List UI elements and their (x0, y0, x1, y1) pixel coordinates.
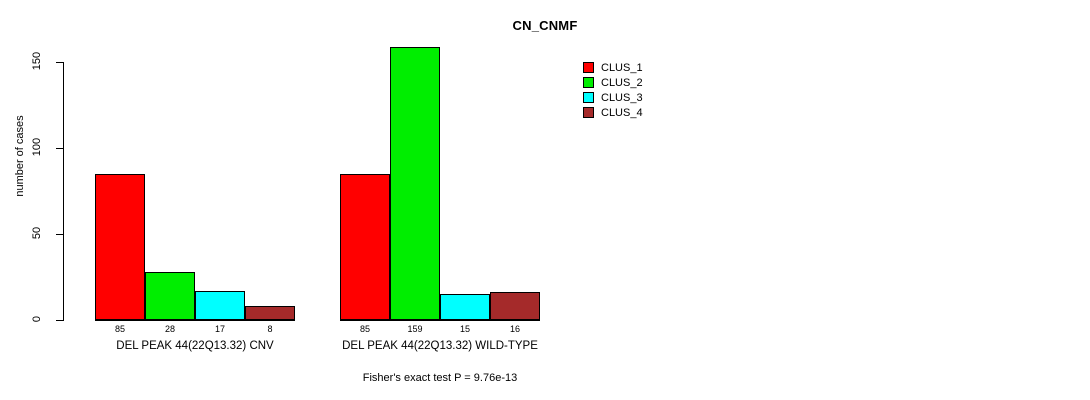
chart-canvas: CN_CNMF number of cases 050100150 852817… (0, 0, 1090, 400)
y-tick-mark (56, 320, 63, 321)
legend-label-clus-1: CLUS_1 (601, 62, 643, 74)
x-axis-line-group-1 (95, 320, 295, 321)
bar-value-label: 85 (340, 324, 390, 334)
bar-value-label: 15 (440, 324, 490, 334)
bar-value-label: 85 (95, 324, 145, 334)
legend: CLUS_1 CLUS_2 CLUS_3 CLUS_4 (583, 60, 643, 120)
x-axis-line-group-2 (340, 320, 540, 321)
legend-item: CLUS_4 (583, 105, 643, 120)
legend-label-clus-2: CLUS_2 (601, 77, 643, 89)
y-tick-mark (56, 62, 63, 63)
y-axis-line (63, 62, 64, 321)
legend-label-clus-3: CLUS_3 (601, 92, 643, 104)
bar-value-label: 8 (245, 324, 295, 334)
legend-swatch-clus-4 (583, 107, 594, 118)
legend-label-clus-4: CLUS_4 (601, 107, 643, 119)
bar-value-label: 17 (195, 324, 245, 334)
bar-value-label: 16 (490, 324, 540, 334)
y-tick-label: 50 (31, 216, 43, 250)
bar (390, 47, 440, 320)
y-tick-label: 100 (31, 130, 43, 164)
y-tick-mark (56, 148, 63, 149)
legend-swatch-clus-3 (583, 92, 594, 103)
statistical-annotation: Fisher's exact test P = 9.76e-13 (240, 372, 640, 384)
bar (440, 294, 490, 320)
legend-swatch-clus-1 (583, 62, 594, 73)
legend-item: CLUS_1 (583, 60, 643, 75)
legend-swatch-clus-2 (583, 77, 594, 88)
legend-item: CLUS_3 (583, 90, 643, 105)
y-tick-mark (56, 234, 63, 235)
legend-item: CLUS_2 (583, 75, 643, 90)
bar (340, 174, 390, 320)
bar (245, 306, 295, 320)
bar (490, 292, 540, 320)
bar-value-label: 159 (390, 324, 440, 334)
bar (195, 291, 245, 320)
bar (145, 272, 195, 320)
y-axis-title: number of cases (14, 66, 26, 246)
y-tick-label: 0 (31, 302, 43, 336)
bar-value-label: 28 (145, 324, 195, 334)
bar (95, 174, 145, 320)
y-tick-label: 150 (31, 44, 43, 78)
chart-title: CN_CNMF (0, 18, 1090, 33)
group-axis-label: DEL PEAK 44(22Q13.32) WILD-TYPE (240, 340, 640, 352)
